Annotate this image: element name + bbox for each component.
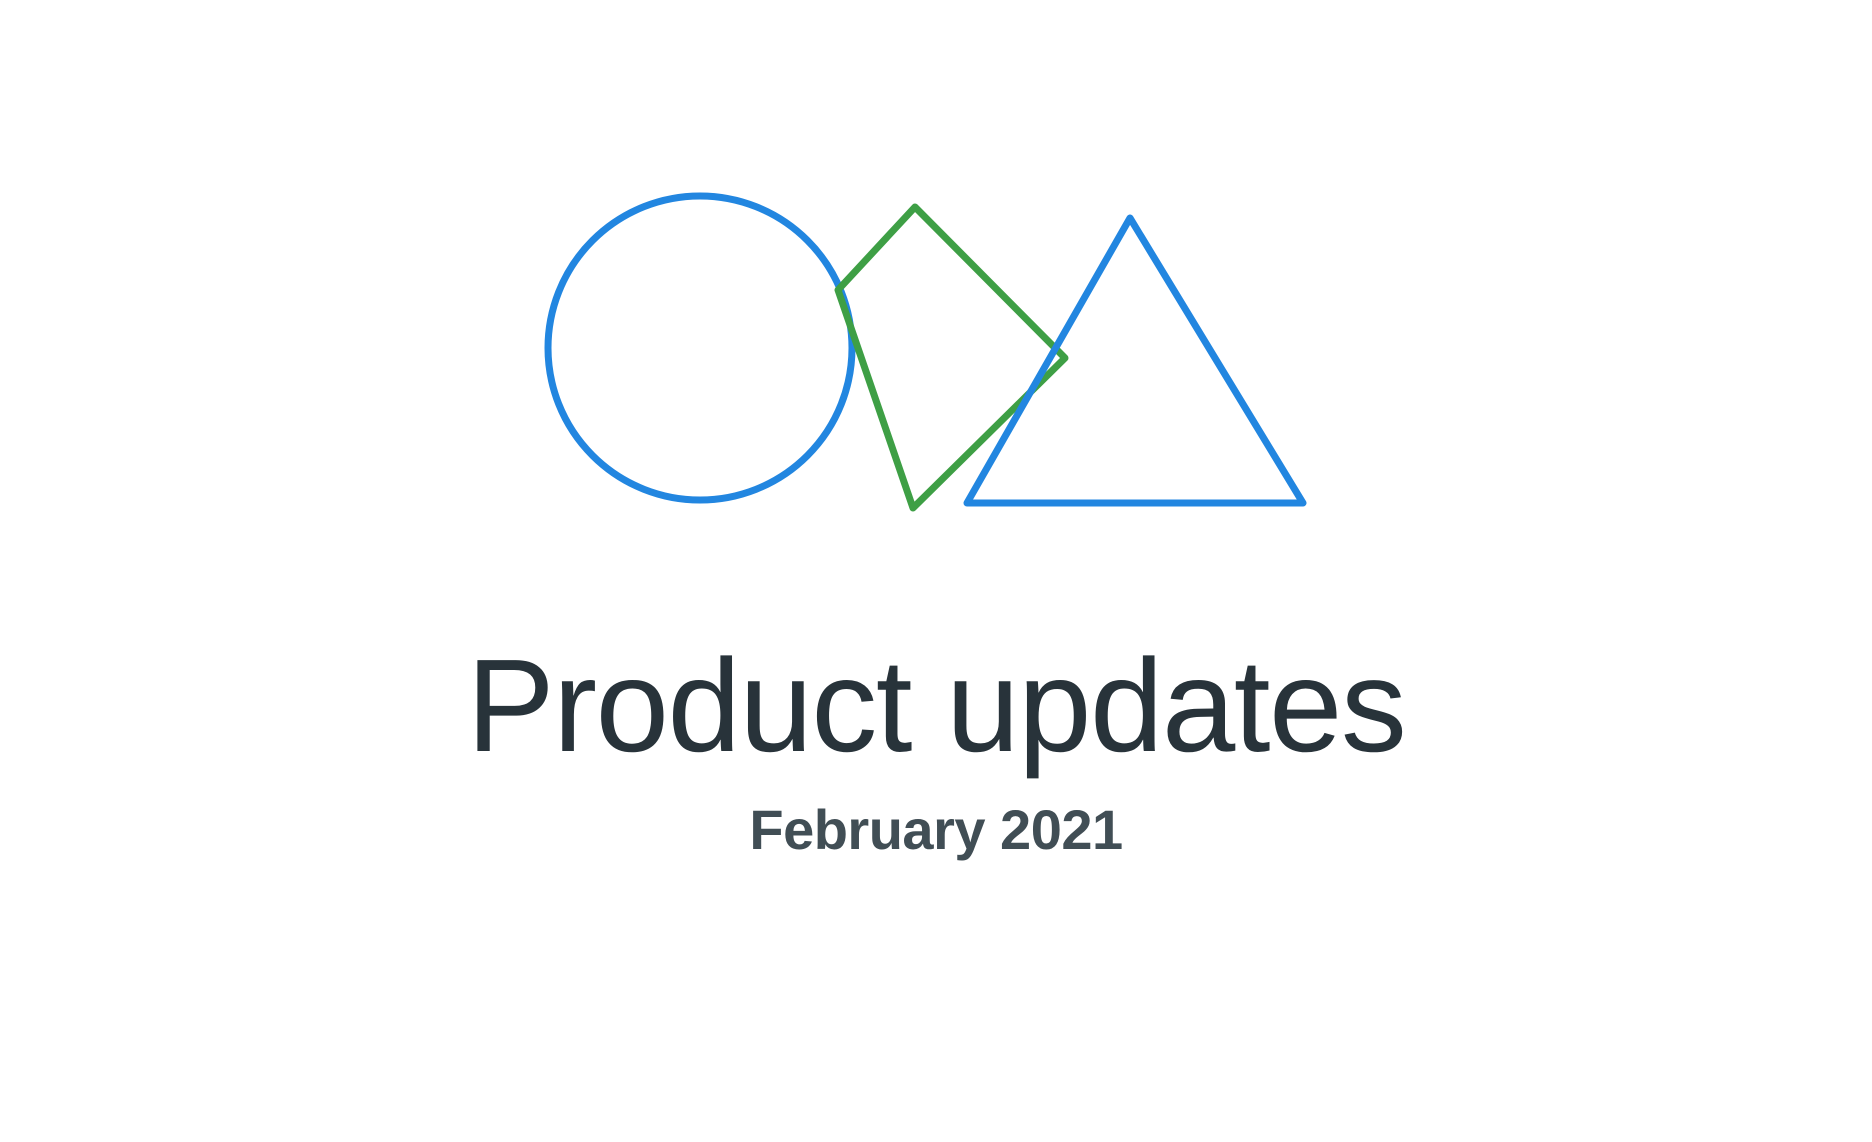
geometric-shapes-illustration — [0, 0, 1872, 560]
page-title: Product updates — [0, 636, 1872, 776]
triangle-outline-icon — [967, 218, 1303, 503]
page-subtitle-date: February 2021 — [0, 798, 1872, 862]
product-updates-hero-card: Product updates February 2021 — [0, 0, 1872, 1142]
diamond-outline-icon — [838, 207, 1065, 508]
hero-text-block: Product updates February 2021 — [0, 636, 1872, 862]
shapes-svg — [0, 0, 1872, 560]
circle-outline-icon — [548, 196, 852, 500]
